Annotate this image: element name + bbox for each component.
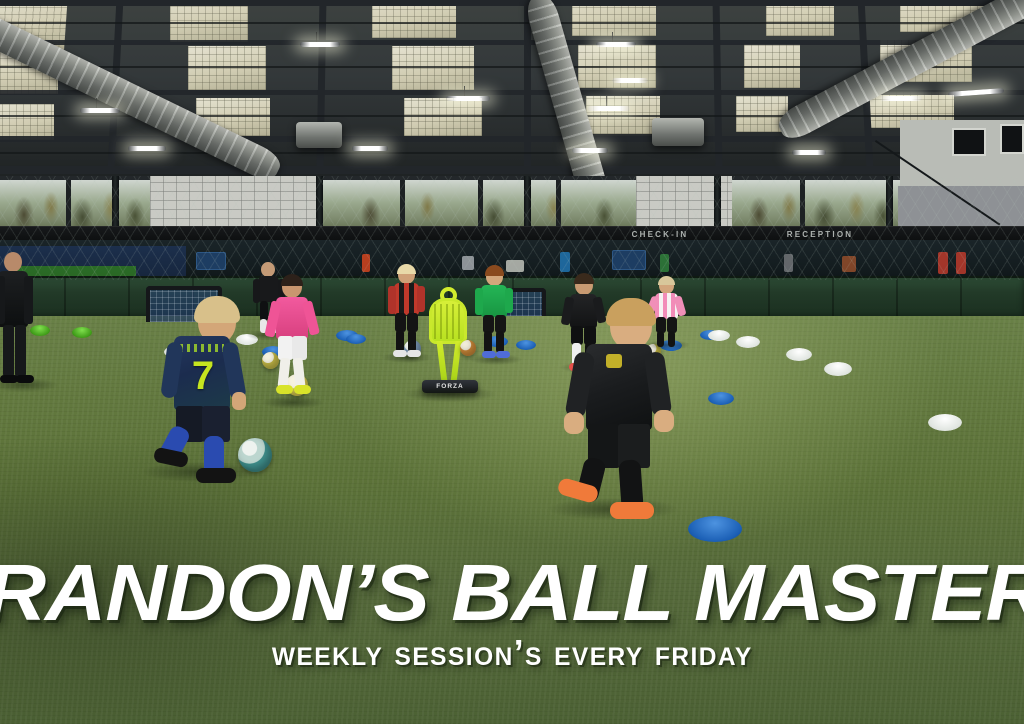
equipment-item [784, 254, 793, 272]
signage-band: CHECK-IN RECEPTION [0, 226, 1024, 241]
shirt-sponsor-print [180, 344, 224, 352]
roof-beam [0, 0, 1024, 6]
wall-tile-panel [150, 176, 320, 228]
player-shorts [278, 336, 293, 360]
player-shirt [481, 285, 507, 317]
player-sock [292, 358, 305, 389]
player-boot [407, 350, 421, 357]
coach-leg [15, 325, 26, 377]
shirt-crest [606, 354, 622, 368]
marker-cone-blue-foreground [688, 516, 742, 542]
player-boot [610, 502, 654, 519]
light-hanger [606, 96, 607, 106]
strip-light [352, 146, 388, 151]
duct-outlet [296, 122, 342, 148]
player-green-shirt [474, 268, 518, 360]
strip-light [596, 42, 636, 47]
marker-cone-white [736, 336, 760, 348]
mannequin-leg [436, 341, 447, 383]
skylight-panel [0, 104, 54, 140]
roof-purlin [0, 152, 1024, 154]
coach-head [4, 252, 22, 272]
equipment-item [938, 252, 948, 274]
upper-window-opening [952, 128, 986, 156]
skylight-panel [188, 46, 266, 90]
strip-light [572, 148, 608, 153]
player-sock [396, 330, 404, 352]
coach-black-jacket [0, 252, 40, 386]
strip-light [588, 106, 630, 111]
equipment-item [462, 256, 474, 270]
player-hair [397, 264, 416, 274]
player-hair [281, 274, 303, 286]
player-boot [196, 468, 236, 483]
marker-cone-white [708, 330, 730, 341]
skylight-panel [392, 46, 474, 90]
strip-light [80, 108, 120, 113]
player-arm [388, 286, 396, 314]
player-boot [153, 447, 189, 469]
coach-boot [16, 375, 34, 383]
warehouse-ceiling [0, 0, 1024, 188]
marker-cone-white [786, 348, 812, 361]
player-hair [194, 296, 240, 323]
foreground-player-black-kit [562, 300, 682, 524]
coach-leg [3, 325, 14, 377]
marker-cone-blue [708, 392, 734, 405]
mannequin-shadow [404, 386, 496, 402]
player-arm [417, 286, 425, 312]
poster-subline: Weekly Session’s Every Friday [272, 632, 753, 674]
player-shorts [292, 336, 307, 360]
player-sock [408, 330, 416, 352]
player-hand [654, 410, 674, 432]
strip-light [612, 78, 648, 83]
poster-text-overlay: BRANDON’S BALL MASTERY Weekly Session’s … [0, 544, 1024, 724]
skylight-panel [404, 98, 482, 136]
coach-arm [24, 276, 33, 324]
player-boot [482, 351, 496, 358]
roof-column [713, 0, 723, 168]
roof-purlin [0, 22, 1024, 24]
coach-arm [0, 276, 5, 324]
wall-monitor [612, 250, 646, 270]
player-sock [277, 358, 290, 389]
equipment-item [956, 252, 966, 274]
player-boot [496, 351, 510, 358]
strip-light [792, 150, 826, 155]
marker-cone-green [72, 327, 92, 338]
foreground-player-number-7: 7 [158, 296, 264, 482]
player-arm [505, 288, 513, 313]
light-hanger [96, 98, 97, 108]
player-boot [276, 385, 293, 394]
marker-cone-blue [346, 334, 366, 344]
wall-monitor [196, 252, 226, 270]
player-hair [606, 298, 656, 326]
marker-cone-blue [516, 340, 536, 350]
player-boot [294, 385, 311, 394]
poster-image: CHECK-IN RECEPTION [0, 0, 1024, 724]
player-head [261, 262, 275, 277]
marker-cone-white [928, 414, 962, 431]
equipment-item [660, 254, 669, 272]
roof-beam [0, 40, 1024, 45]
player-shirt [394, 283, 419, 315]
player-shirt-number: 7 [184, 354, 222, 398]
duct-outlet [652, 118, 704, 146]
player-red-black-stripes [386, 266, 430, 358]
player-arm [475, 288, 483, 315]
marker-cone-white [824, 362, 852, 376]
player-hand [232, 392, 246, 410]
strip-light [446, 96, 490, 101]
strip-light [880, 96, 922, 101]
player-sock [484, 331, 492, 353]
light-hanger [612, 32, 613, 42]
light-hanger [464, 86, 465, 96]
player-hair [658, 276, 675, 285]
player-pink-shirt [268, 276, 320, 400]
strip-light [128, 146, 166, 151]
skylight-panel [170, 0, 248, 42]
mannequin-body [429, 298, 467, 344]
equipment-item [362, 254, 370, 272]
equipment-item [560, 252, 570, 272]
equipment-item [842, 256, 856, 272]
player-boot [393, 350, 407, 357]
upper-window-opening [1000, 124, 1024, 154]
strip-light [300, 42, 340, 47]
player-hand [564, 412, 584, 434]
light-hanger [316, 32, 317, 42]
poster-headline: BRANDON’S BALL MASTERY [0, 550, 1024, 636]
player-sock [496, 331, 504, 353]
